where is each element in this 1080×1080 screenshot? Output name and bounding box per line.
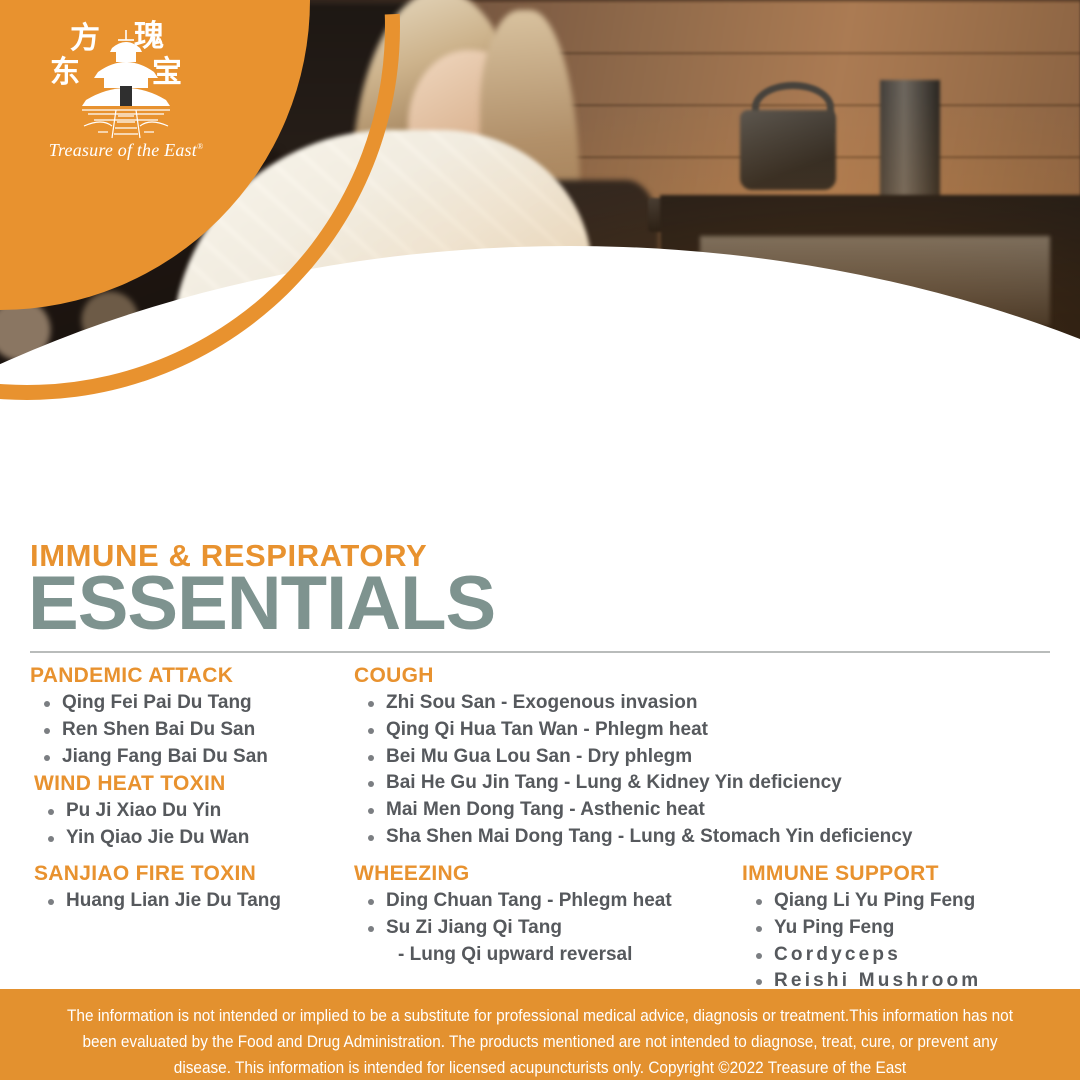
list-item: Jiang Fang Bai Du San <box>30 744 268 771</box>
list-item: Sha Shen Mai Dong Tang - Lung & Stomach … <box>354 824 912 851</box>
section-wheezing: WHEEZING Ding Chuan Tang - Phlegm heat S… <box>354 862 672 968</box>
list-item: Yin Qiao Jie Du Wan <box>34 825 249 852</box>
section-list: Ding Chuan Tang - Phlegm heat Su Zi Jian… <box>354 888 672 968</box>
list-item: Qiang Li Yu Ping Feng <box>742 888 981 915</box>
section-heading: IMMUNE SUPPORT <box>742 862 981 886</box>
list-item: Pu Ji Xiao Du Yin <box>34 798 249 825</box>
list-item: Qing Fei Pai Du Tang <box>30 690 268 717</box>
section-cough: COUGH Zhi Sou San - Exogenous invasion Q… <box>354 664 912 851</box>
section-sanjiao-fire-toxin: SANJIAO FIRE TOXIN Huang Lian Jie Du Tan… <box>34 862 281 915</box>
list-item: Qing Qi Hua Tan Wan - Phlegm heat <box>354 717 912 744</box>
section-list: Huang Lian Jie Du Tang <box>34 888 281 915</box>
section-heading: SANJIAO FIRE TOXIN <box>34 862 281 886</box>
section-heading: COUGH <box>354 664 912 688</box>
section-list: Pu Ji Xiao Du Yin Yin Qiao Jie Du Wan <box>34 798 249 852</box>
page-title: ESSENTIALS <box>28 566 495 642</box>
section-list: Qiang Li Yu Ping Feng Yu Ping Feng Cordy… <box>742 888 981 995</box>
section-list: Zhi Sou San - Exogenous invasion Qing Qi… <box>354 690 912 851</box>
list-item: Cordyceps <box>742 942 981 969</box>
registered-mark: ® <box>197 142 203 151</box>
section-list: Qing Fei Pai Du Tang Ren Shen Bai Du San… <box>30 690 268 770</box>
list-item: Su Zi Jiang Qi Tang <box>354 915 672 942</box>
list-item: Bai He Gu Jin Tang - Lung & Kidney Yin d… <box>354 770 912 797</box>
section-pandemic-attack: PANDEMIC ATTACK Qing Fei Pai Du Tang Ren… <box>30 664 268 770</box>
section-immune-support: IMMUNE SUPPORT Qiang Li Yu Ping Feng Yu … <box>742 862 981 995</box>
list-item: Mai Men Dong Tang - Asthenic heat <box>354 797 912 824</box>
list-item-continuation: - Lung Qi upward reversal <box>354 942 672 969</box>
section-wind-heat-toxin: WIND HEAT TOXIN Pu Ji Xiao Du Yin Yin Qi… <box>34 772 249 852</box>
list-item: Huang Lian Jie Du Tang <box>34 888 281 915</box>
logo-wordmark-text: Treasure of the East <box>49 140 197 160</box>
list-item: Ren Shen Bai Du San <box>30 717 268 744</box>
disclaimer-text: The information is not intended or impli… <box>38 989 1042 1080</box>
temple-icon <box>72 26 180 142</box>
logo-chinese-characters: 方 瑰 东 宝 <box>36 22 216 88</box>
list-item: Bei Mu Gua Lou San - Dry phlegm <box>354 744 912 771</box>
list-item: Yu Ping Feng <box>742 915 981 942</box>
list-item: Zhi Sou San - Exogenous invasion <box>354 690 912 717</box>
brand-logo[interactable]: 方 瑰 东 宝 <box>36 22 216 172</box>
logo-wordmark: Treasure of the East® <box>36 140 216 161</box>
poster-canvas: TIANJIANG Treasure of the East Capsules … <box>0 0 1080 1080</box>
footer-band: The information is not intended or impli… <box>0 989 1080 1080</box>
list-item: Ding Chuan Tang - Phlegm heat <box>354 888 672 915</box>
title-divider <box>30 651 1050 653</box>
section-heading: WIND HEAT TOXIN <box>34 772 249 796</box>
section-heading: WHEEZING <box>354 862 672 886</box>
section-heading: PANDEMIC ATTACK <box>30 664 268 688</box>
